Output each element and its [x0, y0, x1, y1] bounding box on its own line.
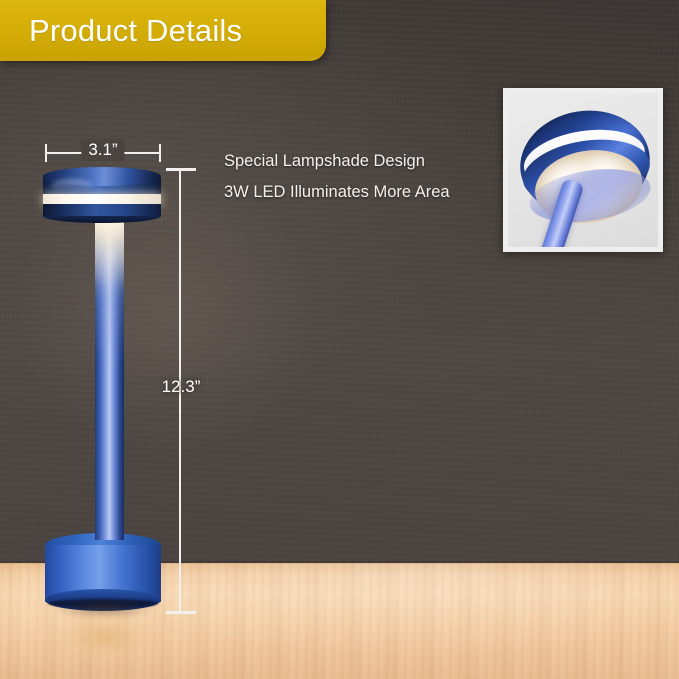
head-highlight	[51, 179, 93, 193]
width-dimension-ruler: 3.1”	[45, 144, 161, 162]
head-lower-band	[43, 204, 161, 216]
width-ruler-right-cap	[159, 144, 161, 162]
inset-lampshade	[513, 101, 658, 224]
lamp-head	[43, 167, 161, 219]
height-dimension-ruler: 12.3”	[166, 168, 196, 614]
inset-photo	[508, 93, 658, 247]
product-detail-image: 3.1” 12.3” Special Lampshade Design 3W L…	[0, 0, 679, 679]
height-dimension-label: 12.3”	[162, 376, 201, 398]
feature-text-block: Special Lampshade Design 3W LED Illumina…	[224, 146, 450, 208]
stem-light-falloff	[95, 212, 124, 286]
lampshade-closeup-inset	[503, 88, 663, 252]
feature-line-1: Special Lampshade Design	[224, 146, 450, 177]
product-details-banner: Product Details	[0, 0, 326, 61]
width-dimension-label: 3.1”	[81, 139, 124, 161]
lamp-table-reflection	[48, 610, 160, 664]
banner-title: Product Details	[0, 13, 242, 49]
height-ruler-top-cap	[166, 168, 196, 171]
feature-line-2: 3W LED Illuminates More Area	[224, 177, 450, 208]
height-ruler-bottom-cap	[166, 611, 196, 614]
